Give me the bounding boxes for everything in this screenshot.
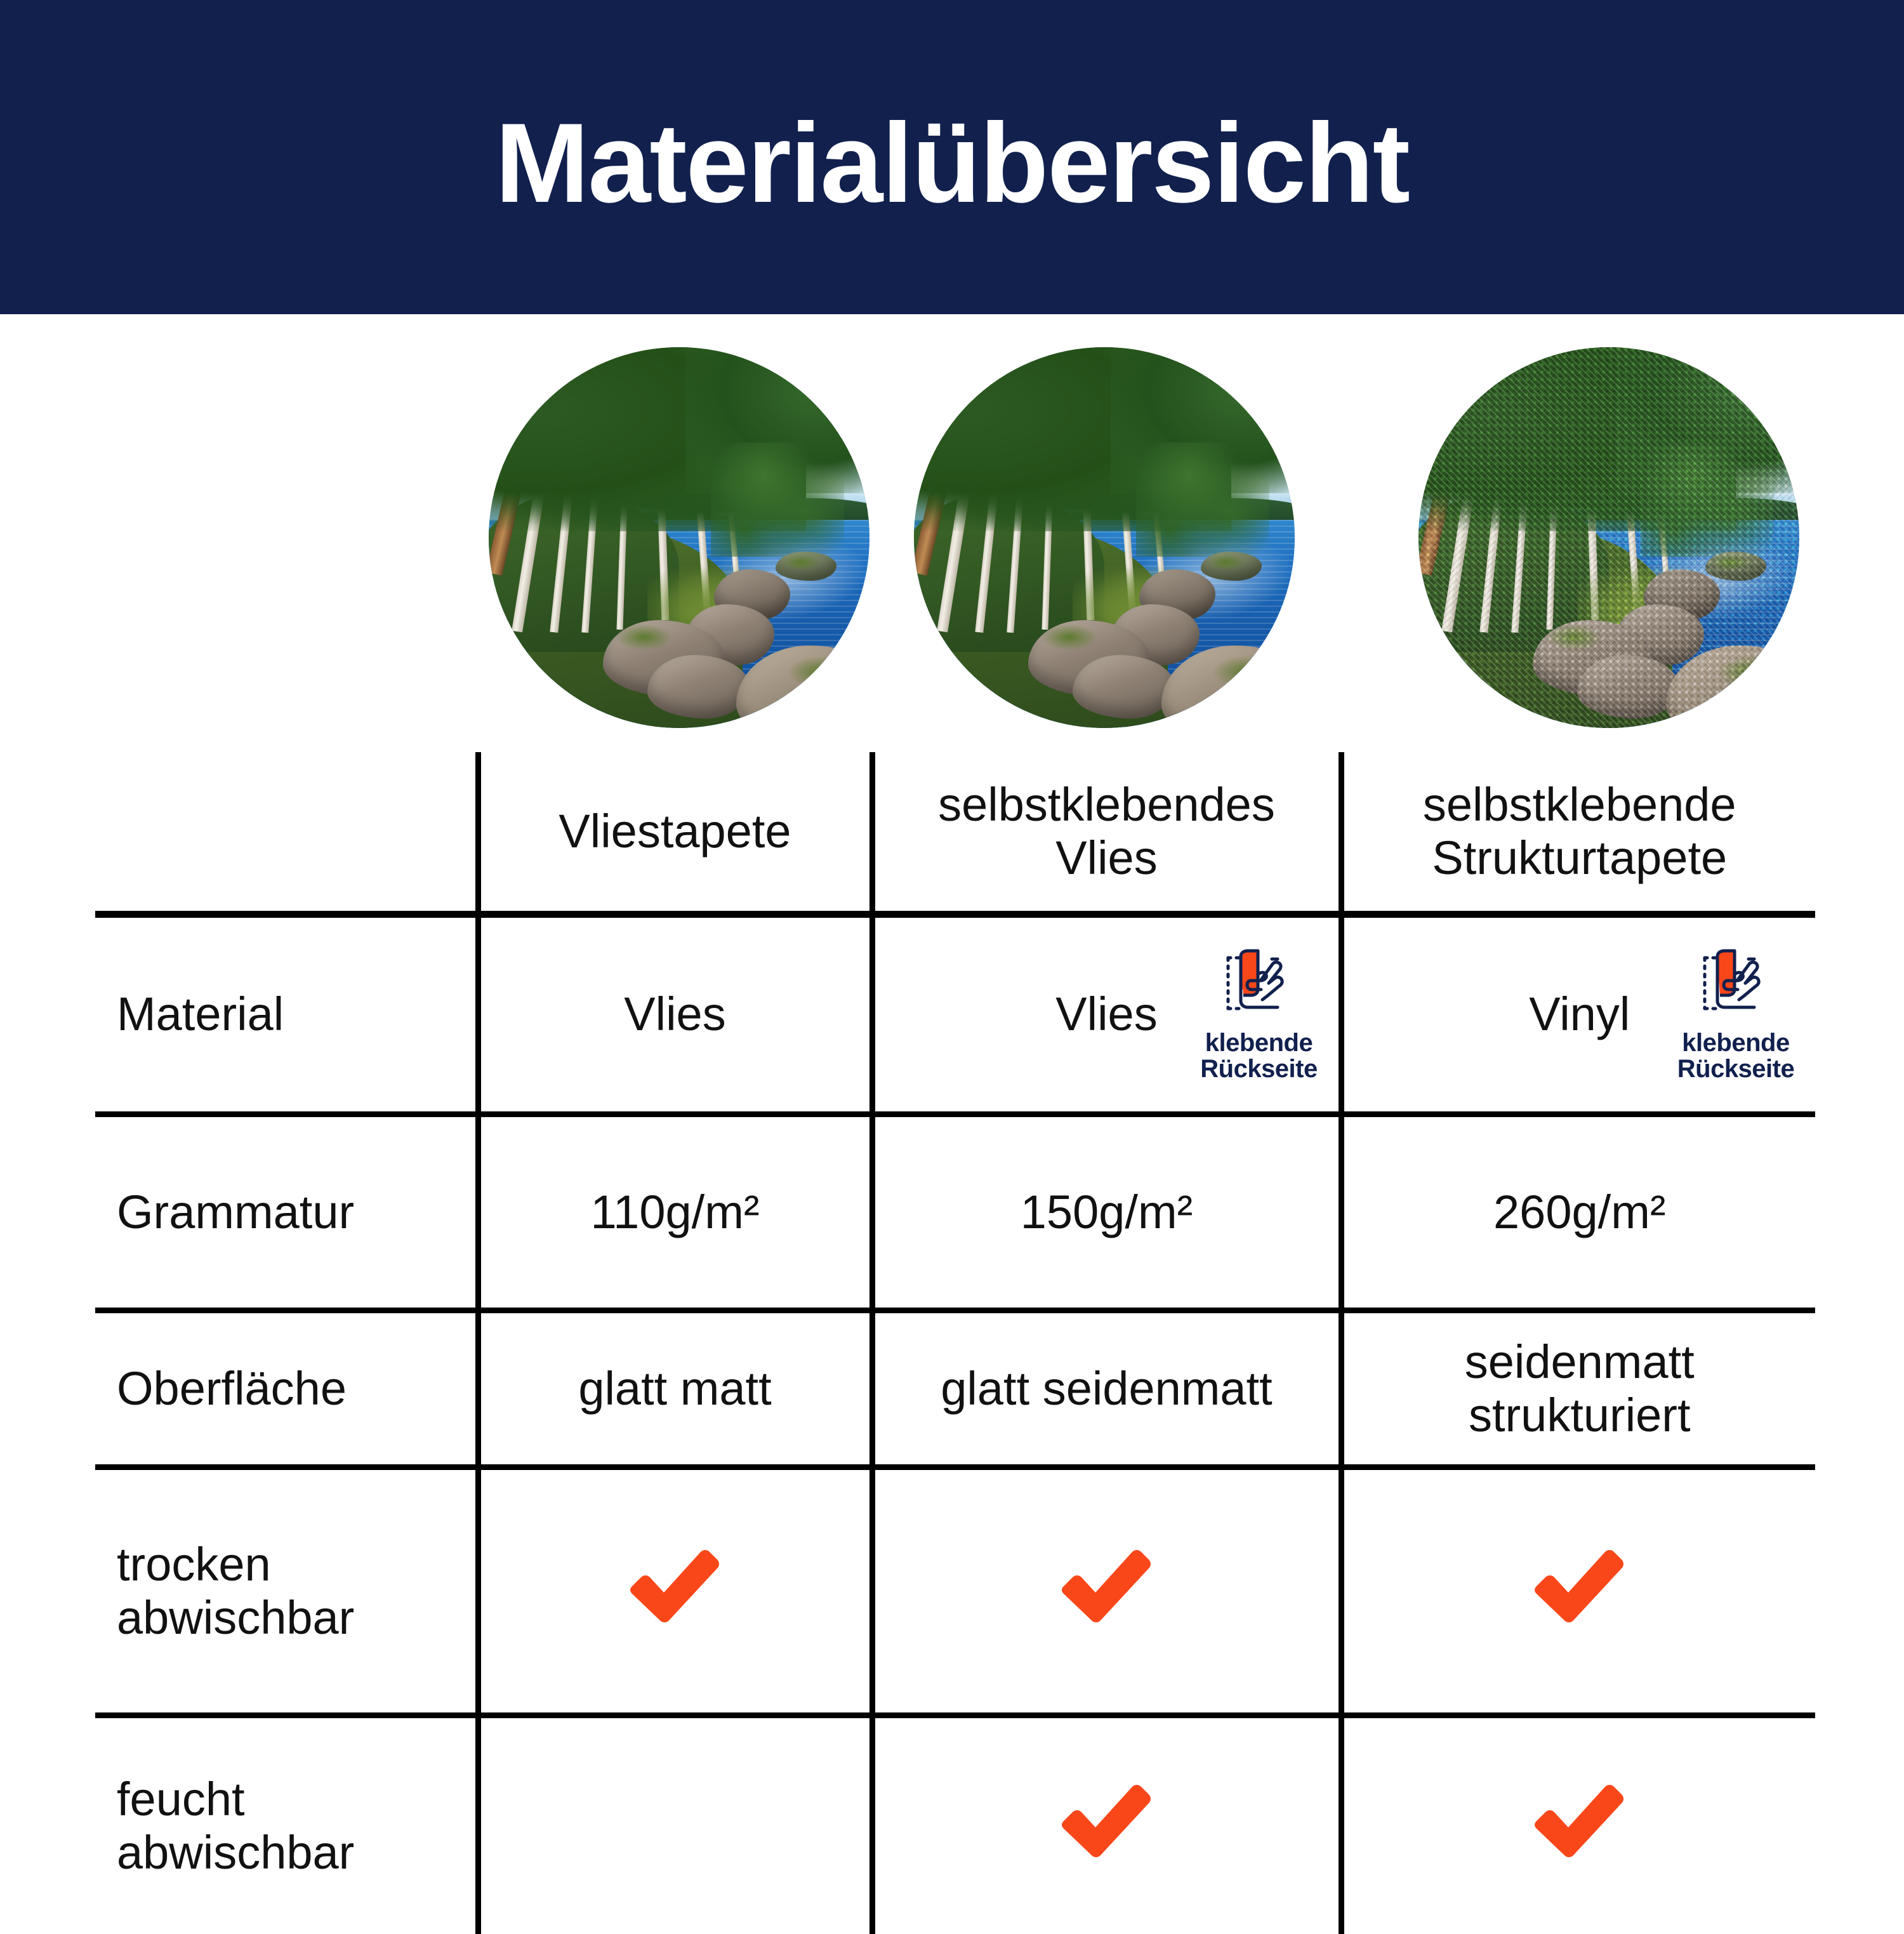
table-row: Grammatur 110g/m² 150g/m² 260g/m² [95,1115,1815,1311]
badge-label-line1: klebende [1663,1030,1809,1056]
column-header-label: selbstklebende Strukturtapete [1354,778,1806,885]
cell-material-selbstklebende-strukturtapete: Vinyl [1341,915,1815,1115]
cell-value: Vlies [1055,988,1157,1041]
cell-value: 110g/m² [591,1186,760,1239]
lake-scene-image [914,347,1295,728]
cell-value: 150g/m² [1021,1186,1193,1239]
orange-checkmark-icon [1354,1779,1806,1872]
badge-label-line1: klebende [1186,1030,1332,1056]
adhesive-backing-badge: klebende Rückseite [1663,947,1809,1082]
thumbnail-strip [0,314,1904,752]
table-header-row: Vliestapete selbstklebendes Vlies selbst… [95,752,1815,915]
column-header-selbstklebendes-vlies: selbstklebendes Vlies [872,752,1341,915]
cell-feucht-vliestapete [478,1716,872,1934]
moss-patch [1717,656,1787,689]
orange-checkmark-icon [491,1544,859,1638]
table-row: Material Vlies Vlies [95,915,1815,1115]
cell-value: Vinyl [1529,988,1630,1041]
cell-trocken-selbstklebendes-vlies [872,1467,1341,1716]
header-banner: Materialübersicht [0,0,1904,314]
preview-selbstklebende-strukturtapete[interactable] [1418,347,1799,728]
moss-patch [1212,656,1282,689]
moss-patch [782,554,820,571]
cell-trocken-selbstklebende-strukturtapete [1341,1467,1815,1716]
cell-oberflaeche-selbstklebende-strukturtapete: seidenmatt strukturiert [1341,1311,1815,1467]
column-header-label: Vliestapete [559,805,791,858]
cell-grammatur-vliestapete: 110g/m² [478,1115,872,1311]
adhesive-backing-badge: klebende Rückseite [1186,947,1332,1082]
rock [647,655,749,719]
row-label-oberflaeche: Oberfläche [95,1311,478,1467]
cell-trocken-vliestapete [478,1467,872,1716]
cell-oberflaeche-vliestapete: glatt matt [478,1311,872,1467]
cell-value: Vlies [624,988,725,1041]
cell-feucht-selbstklebende-strukturtapete [1341,1716,1815,1934]
rock [1577,655,1679,719]
row-label-material: Material [95,915,478,1115]
column-header-selbstklebende-strukturtapete: selbstklebende Strukturtapete [1341,752,1815,915]
orange-checkmark-icon [885,1779,1328,1872]
preview-vliestapete[interactable] [489,347,869,728]
table-row: Oberfläche glatt matt glatt seidenmatt s… [95,1311,1815,1467]
cell-grammatur-selbstklebendes-vlies: 150g/m² [872,1115,1341,1311]
row-label-grammatur: Grammatur [95,1115,478,1311]
cell-value: seidenmatt strukturiert [1354,1335,1806,1443]
table-corner-cell [95,752,478,915]
rock [1073,655,1174,719]
row-label-feucht-abwischbar: feucht abwischbar [95,1716,478,1934]
peel-adhesive-backing-icon [1186,947,1332,1026]
cell-value: 260g/m² [1493,1186,1665,1239]
lake-scene-image [1418,347,1799,728]
peel-adhesive-backing-icon [1663,947,1809,1026]
cell-value: glatt matt [578,1362,771,1415]
row-label-trocken-abwischbar: trocken abwischbar [95,1467,478,1716]
material-comparison-table: Vliestapete selbstklebendes Vlies selbst… [0,752,1904,1904]
orange-checkmark-icon [885,1544,1328,1638]
moss-patch [1041,624,1098,651]
cell-material-selbstklebendes-vlies: Vlies [872,915,1341,1115]
column-header-label: selbstklebendes Vlies [885,778,1328,885]
badge-label-line2: Rückseite [1663,1056,1809,1082]
leaf-branch [1136,442,1269,557]
moss-patch [787,656,857,689]
orange-checkmark-icon [1354,1544,1806,1638]
leaf-branch [711,442,844,557]
cell-grammatur-selbstklebende-strukturtapete: 260g/m² [1341,1115,1815,1311]
lake-scene-image [489,347,869,728]
moss-patch [1545,624,1603,651]
cell-material-vliestapete: Vlies [478,915,872,1115]
preview-selbstklebendes-vlies[interactable] [914,347,1295,728]
badge-label-line2: Rückseite [1186,1056,1332,1082]
cell-feucht-selbstklebendes-vlies [872,1716,1341,1934]
column-header-vliestapete: Vliestapete [478,752,872,915]
table-row: feucht abwischbar [95,1716,1815,1934]
moss-patch [616,624,673,651]
page-title: Materialübersicht [495,107,1409,220]
leaf-branch [1641,442,1774,557]
table-row: trocken abwischbar [95,1467,1815,1716]
cell-oberflaeche-selbstklebendes-vlies: glatt seidenmatt [872,1311,1341,1467]
moss-patch [1712,554,1750,571]
moss-patch [1207,554,1245,571]
cell-value: glatt seidenmatt [941,1362,1272,1415]
